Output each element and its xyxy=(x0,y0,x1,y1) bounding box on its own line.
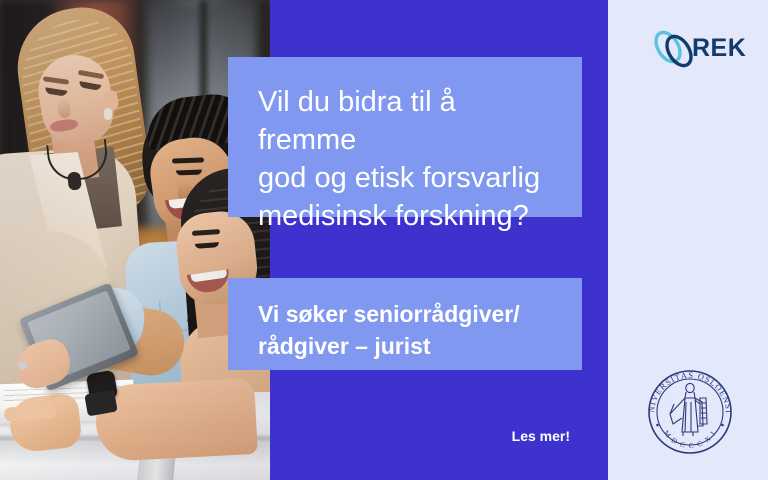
rek-logo: REK xyxy=(650,26,742,72)
uio-seal: UNIVERSITAS OSLOENSIS M D C C C X I xyxy=(640,362,740,462)
uio-seal-top-text: UNIVERSITAS OSLOENSIS xyxy=(640,362,733,414)
uio-seal-icon: UNIVERSITAS OSLOENSIS M D C C C X I xyxy=(640,362,740,462)
photo-man-eye xyxy=(176,170,202,176)
photo-woman-dark-arm xyxy=(94,378,258,462)
photo-woman-blonde-earring xyxy=(104,108,112,120)
uio-seal-apollo-figure xyxy=(670,383,707,436)
job-title-text: Vi søker seniorrådgiver/ rådgiver – juri… xyxy=(258,298,562,362)
headline-box: Vil du bidra til å fremme god og etisk f… xyxy=(228,57,582,217)
photo-woman-blonde-pendant xyxy=(67,171,82,190)
rek-wordmark: REK xyxy=(692,34,746,63)
job-advert-banner: REK UNIVERSITAS OSLOENSIS M D C C C X I xyxy=(0,0,768,480)
job-title-box: Vi søker seniorrådgiver/ rådgiver – juri… xyxy=(228,278,582,370)
headline-text: Vil du bidra til å fremme god og etisk f… xyxy=(258,83,556,235)
read-more-link[interactable]: Les mer! xyxy=(228,428,582,444)
read-more-label: Les mer! xyxy=(512,428,570,444)
